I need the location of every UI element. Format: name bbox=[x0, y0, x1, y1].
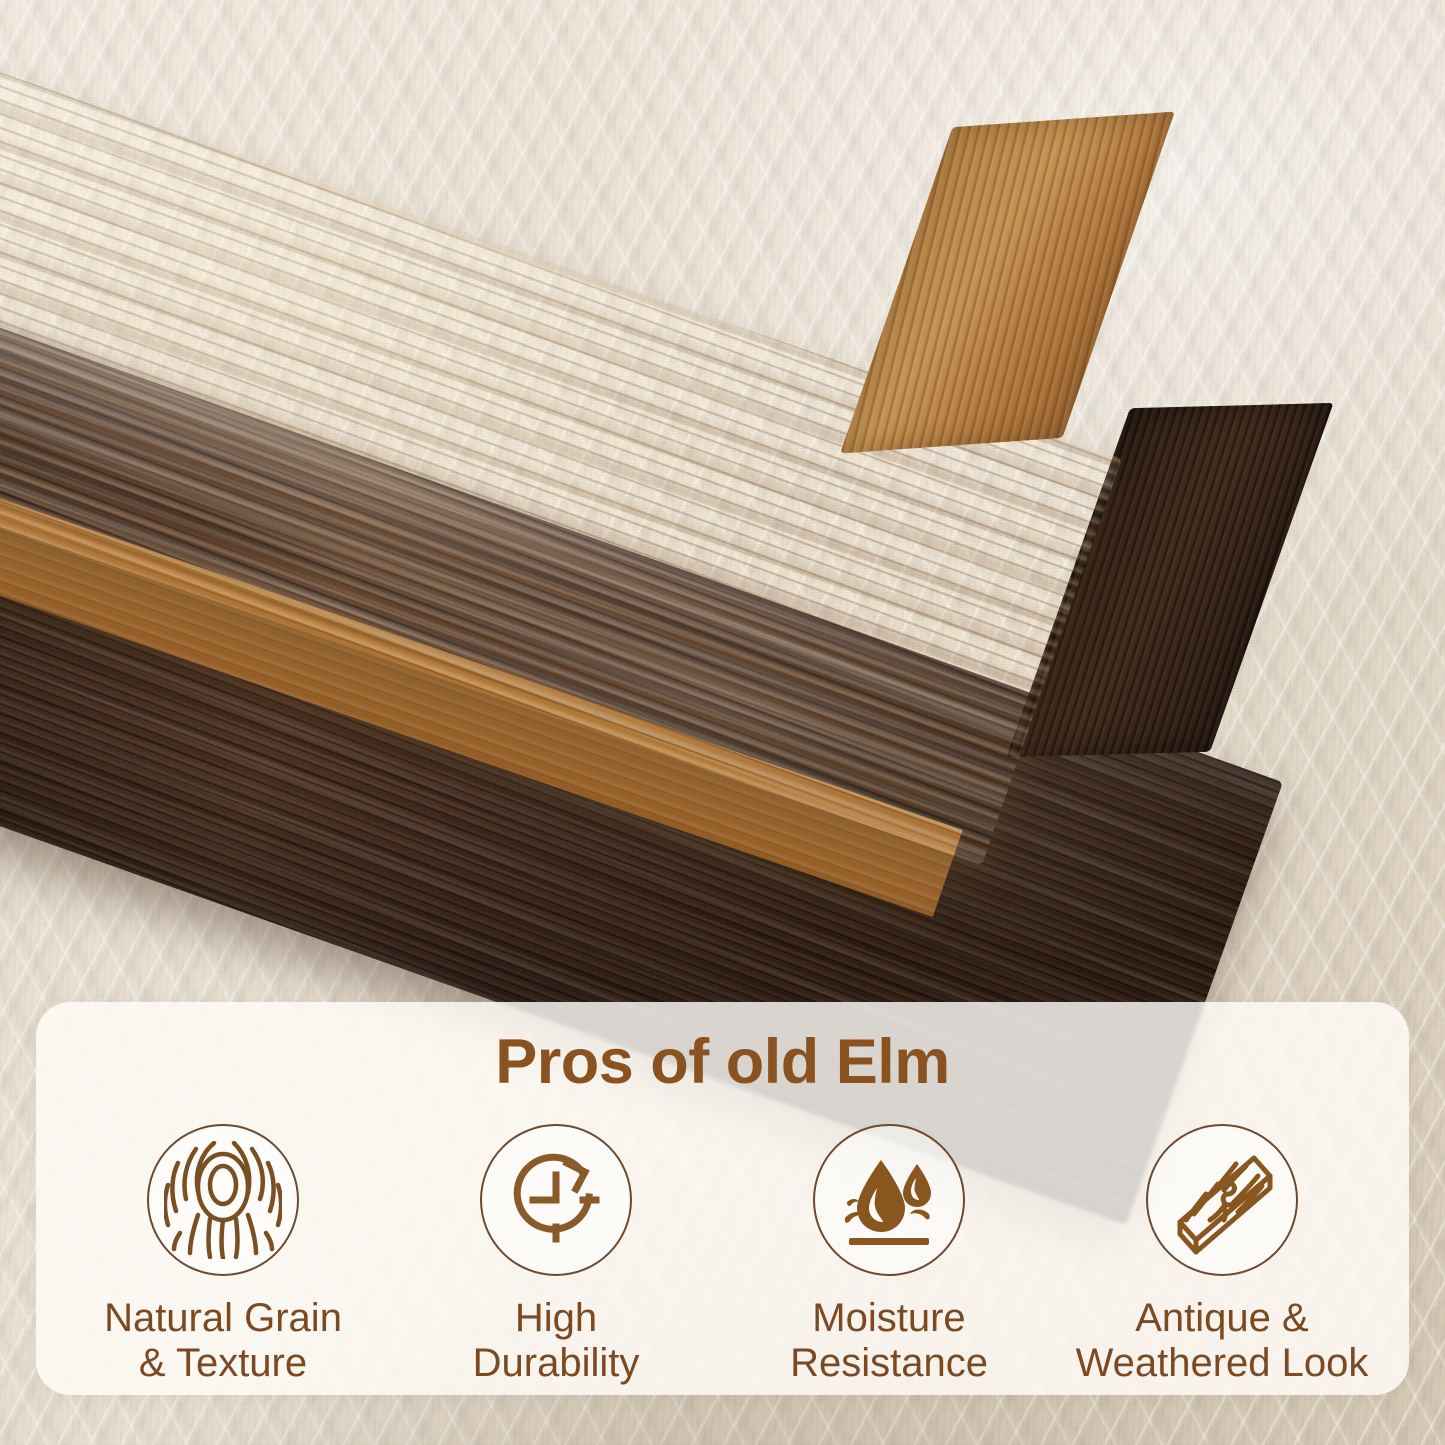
wood-grain-icon bbox=[147, 1124, 299, 1276]
feature-high-durability: High Durability bbox=[391, 1124, 721, 1386]
feature-label: Moisture Resistance bbox=[790, 1296, 988, 1386]
feature-moisture-resistance: Moisture Resistance bbox=[724, 1124, 1054, 1386]
pros-info-panel: Pros of old Elm bbox=[36, 1002, 1409, 1395]
feature-list: Natural Grain & Texture High Durability bbox=[58, 1124, 1387, 1386]
clock-arrow-durability-icon bbox=[480, 1124, 632, 1276]
product-marketing-image: Pros of old Elm bbox=[0, 0, 1445, 1445]
feature-label: High Durability bbox=[473, 1296, 640, 1386]
feature-label: Natural Grain & Texture bbox=[104, 1296, 342, 1386]
feature-antique-weathered-look: Antique & Weathered Look bbox=[1057, 1124, 1387, 1386]
feature-natural-grain: Natural Grain & Texture bbox=[58, 1124, 388, 1386]
panel-title: Pros of old Elm bbox=[36, 1026, 1409, 1098]
feature-label: Antique & Weathered Look bbox=[1076, 1296, 1369, 1386]
wooden-plank-icon bbox=[1146, 1124, 1298, 1276]
water-droplet-resistance-icon bbox=[813, 1124, 965, 1276]
